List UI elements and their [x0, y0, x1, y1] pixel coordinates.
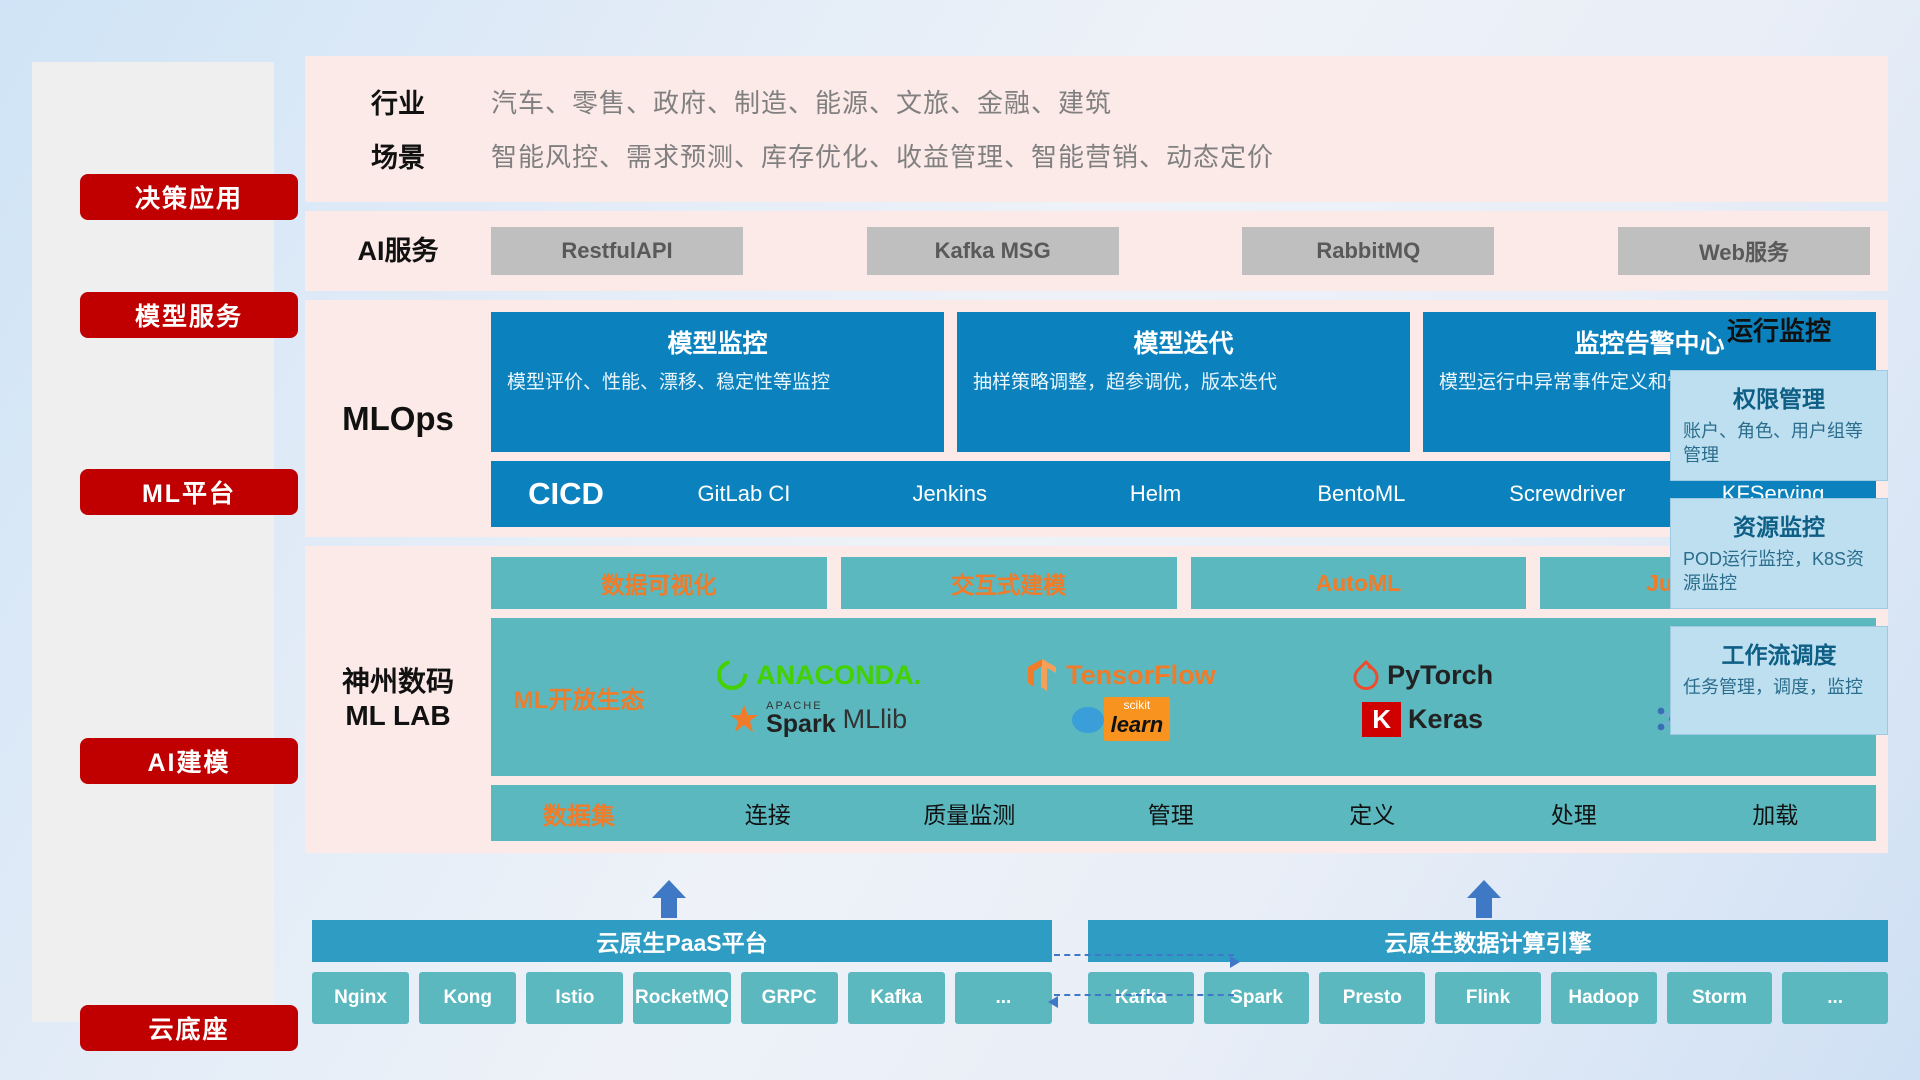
tensorflow-logo-text: TensorFlow [1066, 660, 1216, 691]
mlops-label: MLOps [305, 312, 491, 527]
right-card-title: 权限管理 [1683, 380, 1875, 414]
cloud-chip-kafka[interactable]: Kafka [848, 972, 945, 1024]
ai-service-chip-list: RestfulAPI Kafka MSG RabbitMQ Web服务 [491, 227, 1888, 275]
ai-service-chip-web-service[interactable]: Web服务 [1618, 227, 1870, 275]
engine-chip-flink[interactable]: Flink [1435, 972, 1541, 1024]
right-card-title: 资源监控 [1683, 508, 1875, 542]
dashed-arrow-left-icon [1054, 994, 1234, 996]
dataset-item-define[interactable]: 定义 [1272, 796, 1474, 830]
up-arrow-paas-icon [652, 880, 686, 918]
band-mlops: MLOps 模型监控 模型评价、性能、漂移、稳定性等监控 模型迭代 抽样策略调整… [305, 300, 1888, 537]
ai-service-chip-kafka-msg[interactable]: Kafka MSG [867, 227, 1119, 275]
main-column: 行业 汽车、零售、政府、制造、能源、文旅、金融、建筑 场景 智能风控、需求预测、… [305, 56, 1888, 853]
rail-item-ml-platform[interactable]: ML平台 [80, 469, 298, 515]
dataset-title: 数据集 [491, 796, 667, 831]
engine-chip-presto[interactable]: Presto [1319, 972, 1425, 1024]
right-card-desc: 任务管理，调度，监控 [1683, 676, 1875, 700]
keras-logo-text: Keras [1408, 704, 1483, 735]
rail-item-model-service[interactable]: 模型服务 [80, 292, 298, 338]
right-card-title: 工作流调度 [1683, 636, 1875, 670]
anaconda-logo-text: ANACONDA. [756, 660, 921, 691]
spark-wordmark: APACHE Spark [766, 701, 835, 737]
learn-text: learn [1111, 712, 1164, 738]
mlops-card-model-monitoring[interactable]: 模型监控 模型评价、性能、漂移、稳定性等监控 [491, 312, 944, 452]
cloud-paas-chip-list: Nginx Kong Istio RocketMQ GRPC Kafka ... [312, 972, 1052, 1024]
bidirectional-link-icons [1054, 928, 1254, 1008]
ml-ecosystem: ML开放生态 ANACONDA. [491, 618, 1876, 776]
scikit-learn-badge: scikit learn [1104, 697, 1171, 741]
engine-chip-storm[interactable]: Storm [1667, 972, 1773, 1024]
rail-item-cloud-base[interactable]: 云底座 [80, 1005, 298, 1051]
right-rail: 运行监控 权限管理 账户、角色、用户组等管理 资源监控 POD运行监控，K8S资… [1670, 311, 1888, 752]
cloud-chip-more[interactable]: ... [955, 972, 1052, 1024]
engine-chip-hadoop[interactable]: Hadoop [1551, 972, 1657, 1024]
rail-item-label: 云底座 [148, 1010, 229, 1046]
industry-label: 行业 [305, 82, 491, 121]
band-industry-scenario: 行业 汽车、零售、政府、制造、能源、文旅、金融、建筑 场景 智能风控、需求预测、… [305, 56, 1888, 202]
keras-logo: K Keras [1362, 702, 1483, 737]
scikit-text: scikit [1124, 698, 1151, 712]
cloud-chip-kong[interactable]: Kong [419, 972, 516, 1024]
ai-service-label: AI服务 [305, 235, 491, 268]
dataset-item-process[interactable]: 处理 [1473, 796, 1675, 830]
scenario-value: 智能风控、需求预测、库存优化、收益管理、智能营销、动态定价 [491, 137, 1274, 174]
scenario-label: 场景 [305, 136, 491, 175]
pytorch-logo-text: PyTorch [1387, 660, 1493, 691]
dataset-item-load[interactable]: 加载 [1675, 796, 1877, 830]
tensorflow-mark-icon [1025, 657, 1059, 693]
mlops-card-desc: 模型评价、性能、漂移、稳定性等监控 [507, 370, 928, 396]
scikit-learn-logo: scikit learn [1071, 697, 1171, 741]
ml-lab-label-line1: 神州数码 [342, 665, 454, 699]
mlops-card-list: 模型监控 模型评价、性能、漂移、稳定性等监控 模型迭代 抽样策略调整，超参调优，… [491, 312, 1876, 452]
up-arrow-data-engine-icon [1467, 880, 1501, 918]
cicd-item-gitlab-ci[interactable]: GitLab CI [641, 482, 847, 505]
mlops-card-title: 模型迭代 [973, 324, 1394, 360]
right-card-resource-monitoring[interactable]: 资源监控 POD运行监控，K8S资源监控 [1670, 498, 1888, 609]
keras-mark-icon: K [1362, 702, 1401, 737]
upward-arrow-group [312, 880, 1888, 920]
pytorch-mark-icon [1352, 658, 1380, 692]
rail-item-label: 模型服务 [135, 297, 243, 333]
bottom-section: 云原生PaaS平台 Nginx Kong Istio RocketMQ GRPC… [312, 880, 1888, 1024]
cicd-item-jenkins[interactable]: Jenkins [847, 482, 1053, 505]
dataset-bar: 数据集 连接 质量监测 管理 定义 处理 加载 [491, 785, 1876, 841]
anaconda-mark-icon [715, 658, 749, 692]
industry-row: 行业 汽车、零售、政府、制造、能源、文旅、金融、建筑 [305, 74, 1888, 128]
anaconda-logo: ANACONDA. [715, 658, 921, 692]
ml-lab-label: 神州数码 ML LAB [305, 557, 491, 841]
dataset-item-manage[interactable]: 管理 [1070, 796, 1272, 830]
pytorch-logo: PyTorch [1352, 658, 1493, 692]
mlops-card-model-iteration[interactable]: 模型迭代 抽样策略调整，超参调优，版本迭代 [957, 312, 1410, 452]
ai-service-chip-rabbitmq[interactable]: RabbitMQ [1242, 227, 1494, 275]
ml-tool-data-visualization[interactable]: 数据可视化 [491, 557, 827, 609]
band-ai-modeling: 神州数码 ML LAB 数据可视化 交互式建模 AutoML JupyterLa… [305, 546, 1888, 853]
rail-item-decision-app[interactable]: 决策应用 [80, 174, 298, 220]
tensorflow-logo: TensorFlow [1025, 657, 1216, 693]
industry-value: 汽车、零售、政府、制造、能源、文旅、金融、建筑 [491, 83, 1112, 120]
ml-ecosystem-title: ML开放生态 [491, 680, 667, 715]
ml-tool-automl[interactable]: AutoML [1191, 557, 1527, 609]
rail-item-ai-modeling[interactable]: AI建模 [80, 738, 298, 784]
cloud-chip-grpc[interactable]: GRPC [741, 972, 838, 1024]
scenario-row: 场景 智能风控、需求预测、库存优化、收益管理、智能营销、动态定价 [305, 128, 1888, 182]
mllib-logo-text: MLlib [843, 704, 908, 735]
mlops-card-title: 模型监控 [507, 324, 928, 360]
right-card-workflow-scheduling[interactable]: 工作流调度 任务管理，调度，监控 [1670, 626, 1888, 735]
right-card-permission-management[interactable]: 权限管理 账户、角色、用户组等管理 [1670, 370, 1888, 481]
ml-tool-list: 数据可视化 交互式建模 AutoML JupyterLab [491, 557, 1876, 609]
ml-lab-label-line2: ML LAB [342, 699, 454, 733]
dashed-arrow-right-icon [1054, 954, 1234, 956]
spark-logo-text: Spark [766, 712, 835, 737]
ai-service-chip-restfulapi[interactable]: RestfulAPI [491, 227, 743, 275]
right-card-desc: 账户、角色、用户组等管理 [1683, 420, 1875, 468]
cloud-paas-column: 云原生PaaS平台 Nginx Kong Istio RocketMQ GRPC… [312, 920, 1052, 1024]
cicd-item-helm[interactable]: Helm [1053, 482, 1259, 505]
cloud-chip-nginx[interactable]: Nginx [312, 972, 409, 1024]
cicd-title: CICD [491, 476, 641, 512]
mlops-card-desc: 抽样策略调整，超参调优，版本迭代 [973, 370, 1394, 396]
spark-star-icon [729, 704, 759, 734]
engine-chip-more[interactable]: ... [1782, 972, 1888, 1024]
dataset-item-quality-monitoring[interactable]: 质量监测 [869, 796, 1071, 830]
cloud-paas-title: 云原生PaaS平台 [312, 920, 1052, 962]
rail-item-label: 决策应用 [135, 179, 243, 215]
cloud-base-row: 云原生PaaS平台 Nginx Kong Istio RocketMQ GRPC… [312, 920, 1888, 1024]
cicd-item-screwdriver[interactable]: Screwdriver [1464, 482, 1670, 505]
right-card-desc: POD运行监控，K8S资源监控 [1683, 548, 1875, 596]
rail-item-label: ML平台 [142, 474, 236, 510]
cicd-item-bentoml[interactable]: BentoML [1258, 482, 1464, 505]
cicd-bar: CICD GitLab CI Jenkins Helm BentoML Scre… [491, 461, 1876, 527]
rail-item-label: AI建模 [147, 743, 230, 779]
cloud-chip-istio[interactable]: Istio [526, 972, 623, 1024]
left-rail: 决策应用 模型服务 ML平台 AI建模 云底座 [32, 62, 274, 1022]
right-rail-title: 运行监控 [1670, 311, 1888, 348]
spark-mllib-logo: APACHE Spark MLlib [729, 701, 907, 737]
band-ai-service: AI服务 RestfulAPI Kafka MSG RabbitMQ Web服务 [305, 211, 1888, 291]
ml-tool-interactive-modeling[interactable]: 交互式建模 [841, 557, 1177, 609]
dataset-item-list: 连接 质量监测 管理 定义 处理 加载 [667, 796, 1876, 830]
diagram-canvas: 决策应用 模型服务 ML平台 AI建模 云底座 行业 汽车、零售、政府、制造、能… [0, 0, 1920, 1080]
dataset-item-connect[interactable]: 连接 [667, 796, 869, 830]
cloud-chip-rocketmq[interactable]: RocketMQ [633, 972, 730, 1024]
